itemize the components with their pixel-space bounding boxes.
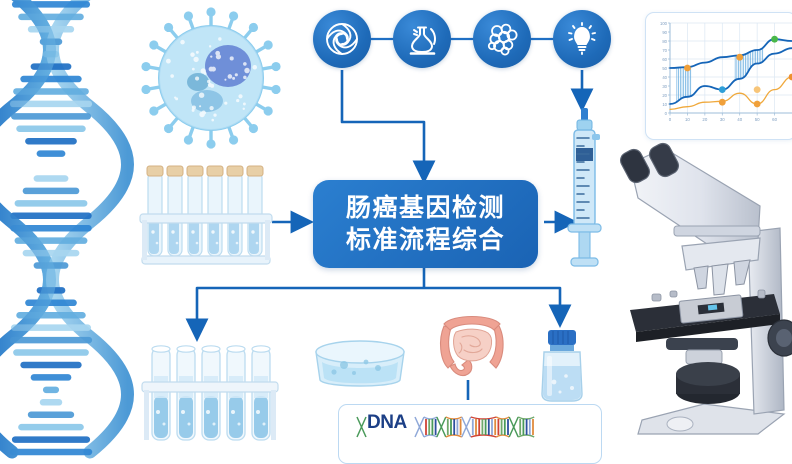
svg-text:60: 60 (662, 57, 667, 62)
center-box-line-1: 肠癌基因检测 (346, 192, 505, 224)
center-process-box[interactable]: 肠癌基因检测 标准流程综合 (313, 180, 538, 268)
svg-text:30: 30 (720, 117, 725, 122)
dna-sequence-card[interactable]: DNA (338, 404, 602, 464)
svg-text:100: 100 (660, 21, 668, 26)
dna-card-label: DNA (367, 412, 407, 434)
syringe (562, 106, 608, 276)
intestine (432, 310, 512, 384)
line-chart-card[interactable]: 01020304050607080901000102030405060 (645, 12, 792, 140)
svg-text:50: 50 (662, 66, 667, 71)
test-tube-rack-top (138, 158, 274, 270)
svg-text:60: 60 (772, 117, 777, 122)
infographic-canvas: 肠癌基因检测 标准流程综合 01020304050607080901000102… (0, 0, 792, 442)
test-tube-rack-bottom (140, 336, 280, 442)
svg-text:20: 20 (662, 93, 667, 98)
center-box-line-2: 标准流程综合 (346, 224, 505, 256)
svg-text:0: 0 (665, 111, 668, 116)
line-chart: 01020304050607080901000102030405060 (646, 13, 792, 139)
svg-text:20: 20 (702, 117, 707, 122)
svg-text:70: 70 (662, 48, 667, 53)
svg-text:30: 30 (662, 84, 667, 89)
petri-dish (310, 338, 410, 394)
svg-text:50: 50 (755, 117, 760, 122)
svg-text:10: 10 (662, 102, 667, 107)
svg-text:90: 90 (662, 30, 667, 35)
svg-text:80: 80 (662, 39, 667, 44)
microscope (608, 142, 792, 442)
svg-text:40: 40 (737, 117, 742, 122)
reagent-bottle (534, 326, 590, 404)
svg-text:0: 0 (669, 117, 672, 122)
svg-text:10: 10 (685, 117, 690, 122)
svg-text:40: 40 (662, 75, 667, 80)
